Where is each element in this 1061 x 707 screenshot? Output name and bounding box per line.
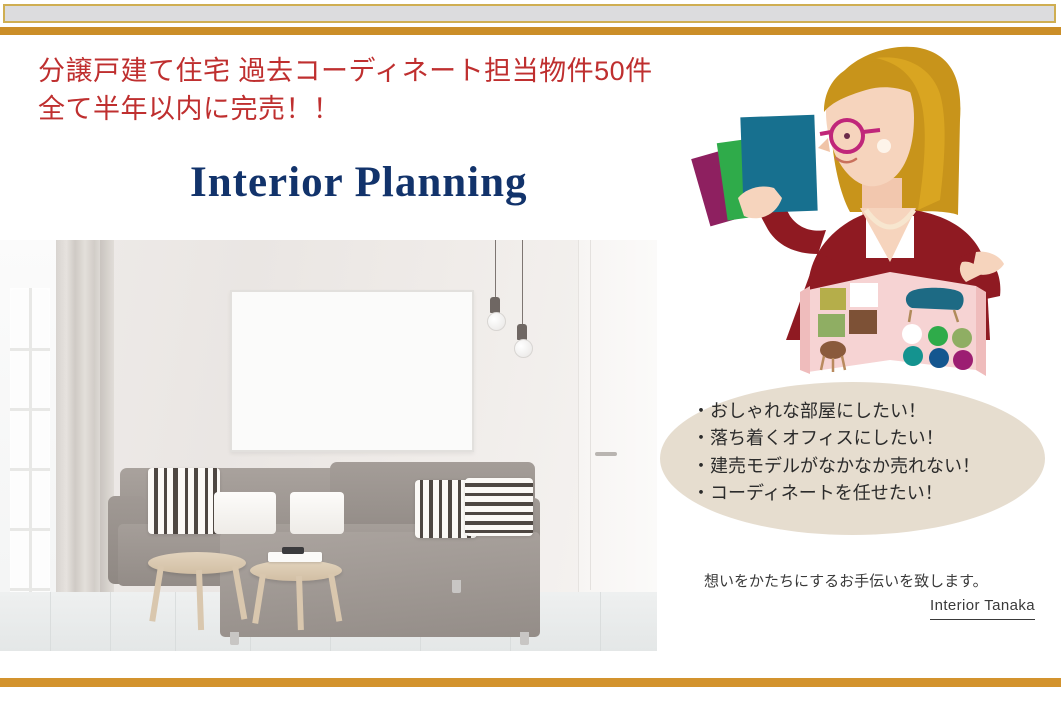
catalog-swatch: [818, 314, 845, 337]
photo-sofa-leg: [230, 632, 239, 645]
photo-pendant-bulb: [514, 339, 533, 358]
photo-window-mullion: [29, 288, 32, 623]
earring: [877, 139, 891, 153]
page-title: Interior Planning: [190, 158, 528, 207]
photo-striped-cushion: [148, 468, 220, 534]
headline-text: 分譲戸建て住宅 過去コーディネート担当物件50件 全て半年以内に完売！！: [38, 52, 758, 129]
top-decoration-bar: [0, 0, 1061, 34]
catalog-left-cover: [800, 286, 810, 374]
catalog-swatch: [849, 310, 877, 334]
catalog-dot: [929, 348, 949, 368]
catalog-swatch: [820, 288, 846, 310]
photo-chaise-lounge: [220, 532, 540, 637]
signature-tagline: 想いをかたちにするお手伝いを致します。: [690, 570, 1035, 594]
glasses-temple: [820, 132, 831, 134]
slide-canvas: 分譲戸建て住宅 過去コーディネート担当物件50件 全て半年以内に完売！！ Int…: [0, 0, 1061, 707]
catalog-dot: [903, 346, 923, 366]
photo-door-edge: [590, 240, 591, 590]
bubble-line-3: ・建売モデルがなかなか売れない！: [692, 453, 1032, 480]
eye: [844, 133, 850, 139]
photo-pendant-cord: [495, 240, 496, 298]
catalog-dot: [928, 326, 948, 346]
photo-pendant-cap: [490, 297, 500, 313]
photo-window-mullion: [10, 528, 50, 531]
bubble-line-4: ・コーディネートを任せたい！: [692, 480, 1032, 507]
signature-block: 想いをかたちにするお手伝いを致します。 Interior Tanaka: [690, 570, 1035, 620]
glasses-bridge: [863, 130, 880, 132]
photo-sofa-leg: [520, 632, 529, 645]
photo-sofa-leg: [452, 580, 461, 593]
photo-window-mullion: [10, 348, 50, 351]
bottom-decoration-bar: [0, 678, 1061, 687]
catalog-dot: [902, 324, 922, 344]
photo-pendant-cord: [522, 240, 523, 325]
photo-window-mullion: [10, 408, 50, 411]
catalog-sofa: [906, 288, 964, 310]
speech-bubble-text: ・おしゃれな部屋にしたい！ ・落ち着くオフィスにしたい！ ・建売モデルがなかなか…: [692, 398, 1032, 507]
top-bar-gold-rule: [0, 27, 1061, 35]
photo-wall-canvas-art: [230, 290, 474, 452]
photo-door-handle: [595, 452, 617, 456]
bubble-line-2: ・落ち着くオフィスにしたい！: [692, 425, 1032, 452]
catalog-swatch: [850, 283, 878, 307]
photo-window-mullion: [10, 468, 50, 471]
catalog-right-cover: [976, 286, 986, 376]
photo-striped-cushion: [465, 478, 533, 536]
photo-pendant-cap: [517, 324, 527, 340]
catalog-dot: [953, 350, 973, 370]
bubble-line-1: ・おしゃれな部屋にしたい！: [692, 398, 1032, 425]
woman-with-color-swatches-illustration: [690, 40, 1061, 380]
living-room-interior-photo: [0, 240, 657, 651]
photo-phone: [282, 547, 304, 554]
photo-white-cushion: [290, 492, 344, 534]
photo-white-cushion: [214, 492, 276, 534]
catalog-dot: [952, 328, 972, 348]
photo-window-mullion: [10, 588, 50, 591]
signature-company-name: Interior Tanaka: [930, 594, 1035, 620]
top-bar-gray-panel: [3, 4, 1056, 23]
photo-pendant-bulb: [487, 312, 506, 331]
nose: [818, 138, 830, 152]
